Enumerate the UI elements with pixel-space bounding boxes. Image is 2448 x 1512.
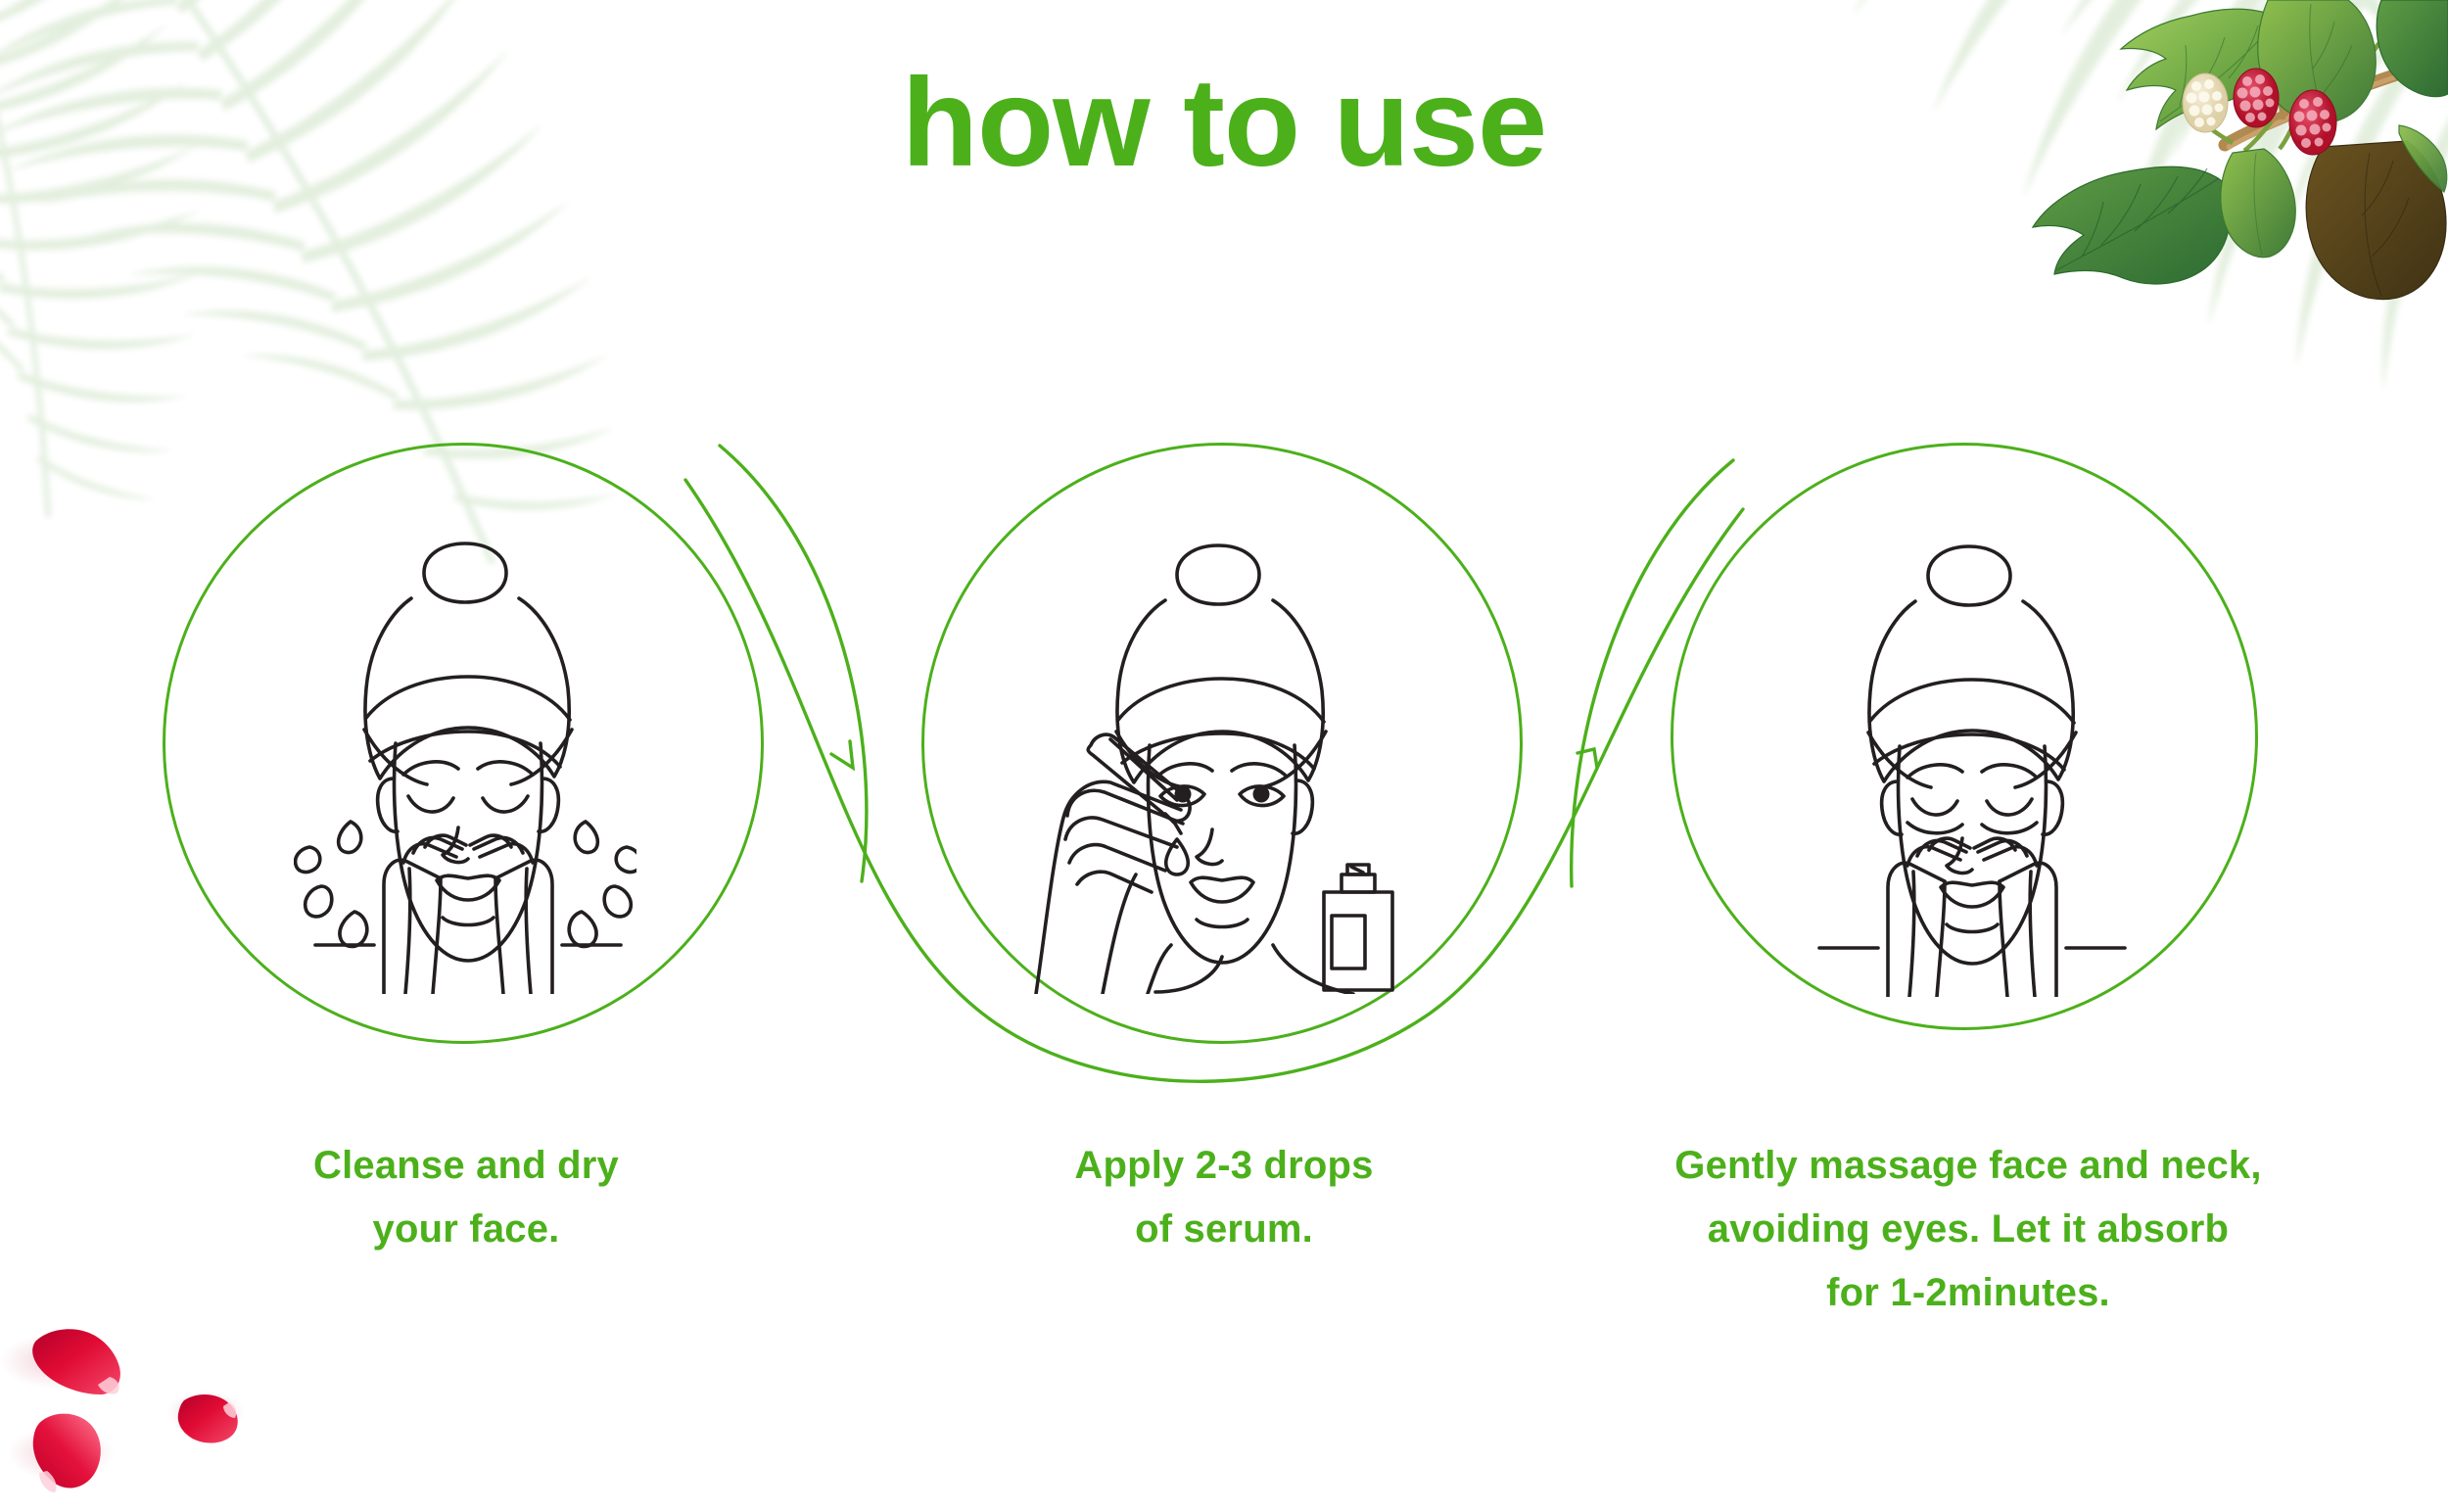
water-droplet [575, 822, 597, 852]
water-droplet [569, 912, 596, 947]
water-droplet [296, 847, 320, 872]
raspberry-ripe [2289, 90, 2336, 155]
raspberry-branch-illustration [1939, 0, 2448, 323]
serum-bottle-icon [1324, 865, 1392, 990]
step-2-caption-line-1: Apply 2-3 drops [862, 1134, 1586, 1198]
woman-applying-serum-dropper-icon [1009, 534, 1420, 994]
raspberry-unripe [2183, 73, 2228, 132]
raspberry-ripe [2234, 69, 2279, 127]
water-droplet [306, 886, 332, 917]
woman-massaging-face-icon [1798, 537, 2141, 997]
leaf [2033, 166, 2230, 284]
step-3-caption: Gently massage face and neck, avoiding e… [1528, 1134, 2409, 1324]
page-title-text: how to use [902, 61, 1546, 186]
infographic-canvas: how to use [0, 0, 2448, 1512]
rose-petals-illustration [0, 1316, 411, 1512]
step-1-caption-line-1: Cleanse and dry [94, 1134, 838, 1198]
water-droplet [340, 912, 367, 947]
arrow-head-2 [1577, 749, 1597, 768]
step-1-caption-line-2: your face. [94, 1198, 838, 1261]
water-droplet [616, 847, 636, 872]
woman-washing-face-icon [294, 534, 636, 994]
leaf [2221, 149, 2295, 258]
step-1-caption: Cleanse and dry your face. [94, 1134, 838, 1261]
step-3-caption-line-3: for 1-2minutes. [1528, 1261, 2409, 1325]
water-droplet [604, 886, 631, 917]
step-2-caption-line-2: of serum. [862, 1198, 1586, 1261]
step-2-caption: Apply 2-3 drops of serum. [862, 1134, 1586, 1261]
rose-petal [33, 1414, 101, 1492]
arrow-head-1 [831, 741, 853, 768]
step-3-caption-line-2: avoiding eyes. Let it absorb [1528, 1198, 2409, 1261]
water-droplet [339, 822, 361, 852]
step-3-caption-line-1: Gently massage face and neck, [1528, 1134, 2409, 1198]
